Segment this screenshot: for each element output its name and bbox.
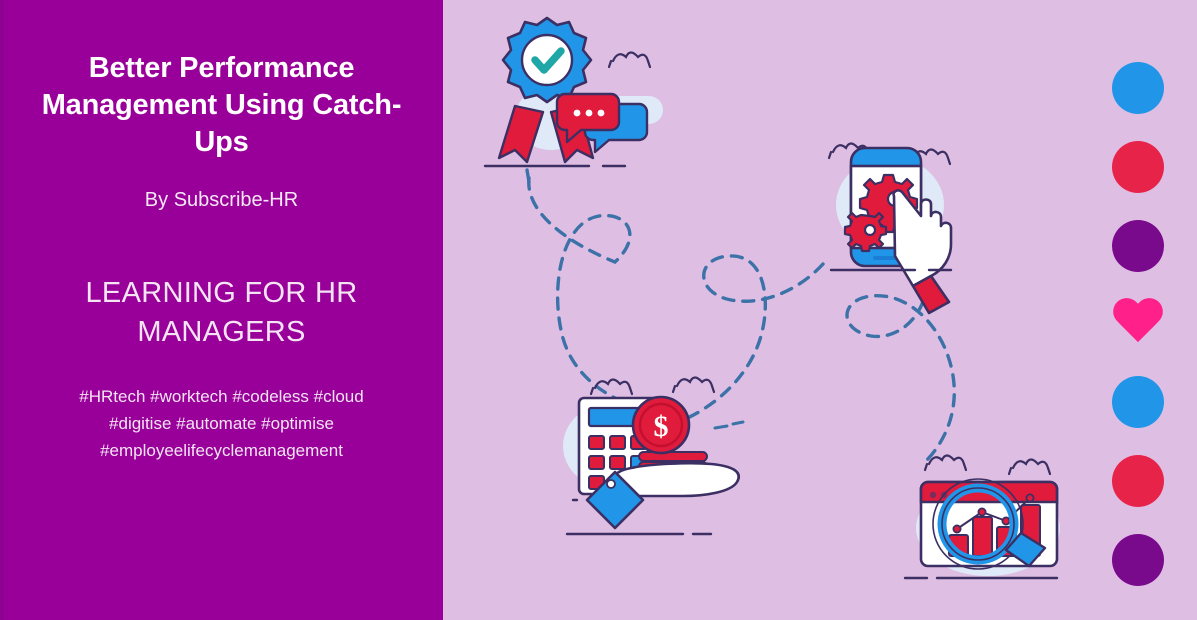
hashtag-line-1: #HRtech #worktech #codeless #cloud <box>79 383 363 410</box>
swatch-purple-1 <box>1112 220 1164 272</box>
verified-badge-icon <box>503 18 591 102</box>
svg-text:$: $ <box>654 410 669 443</box>
byline-author: By Subscribe-HR <box>145 189 298 212</box>
swatch-purple-2 <box>1112 534 1164 586</box>
gear-icon <box>845 213 886 251</box>
swatch-heart <box>1111 299 1165 349</box>
illustration-area: $ <box>443 0 1079 620</box>
hashtag-line-2: #digitise #automate #optimise <box>79 410 363 437</box>
award-badge-illustration <box>485 18 663 182</box>
swatch-blue-2 <box>1112 376 1164 428</box>
motion-dashes <box>715 422 743 428</box>
subtitle-heading: LEARNING FOR HR MANAGERS <box>0 274 443 351</box>
swatch-red-2 <box>1112 455 1164 507</box>
swatch-red-1 <box>1112 141 1164 193</box>
hashtag-block: #HRtech #worktech #codeless #cloud #digi… <box>55 383 387 465</box>
swatch-blue-1 <box>1112 62 1164 114</box>
connector-path-calculator-to-phone <box>661 256 823 428</box>
color-swatch-column <box>1079 0 1197 620</box>
poster-canvas: Better Performance Management Using Catc… <box>0 0 1197 620</box>
page-title: Better Performance Management Using Catc… <box>0 50 443 161</box>
mobile-settings-illustration <box>829 144 951 314</box>
left-text-panel: Better Performance Management Using Catc… <box>0 0 443 620</box>
cloud-doodle-icon <box>1009 460 1050 475</box>
panel-left-edge <box>0 0 4 620</box>
cloud-doodle-icon <box>673 378 714 393</box>
cloud-doodle-icon <box>609 53 650 68</box>
analytics-window-illustration <box>905 456 1060 579</box>
hashtag-line-3: #employeelifecyclemanagement <box>79 437 363 464</box>
dollar-coin-icon: $ <box>633 397 689 453</box>
